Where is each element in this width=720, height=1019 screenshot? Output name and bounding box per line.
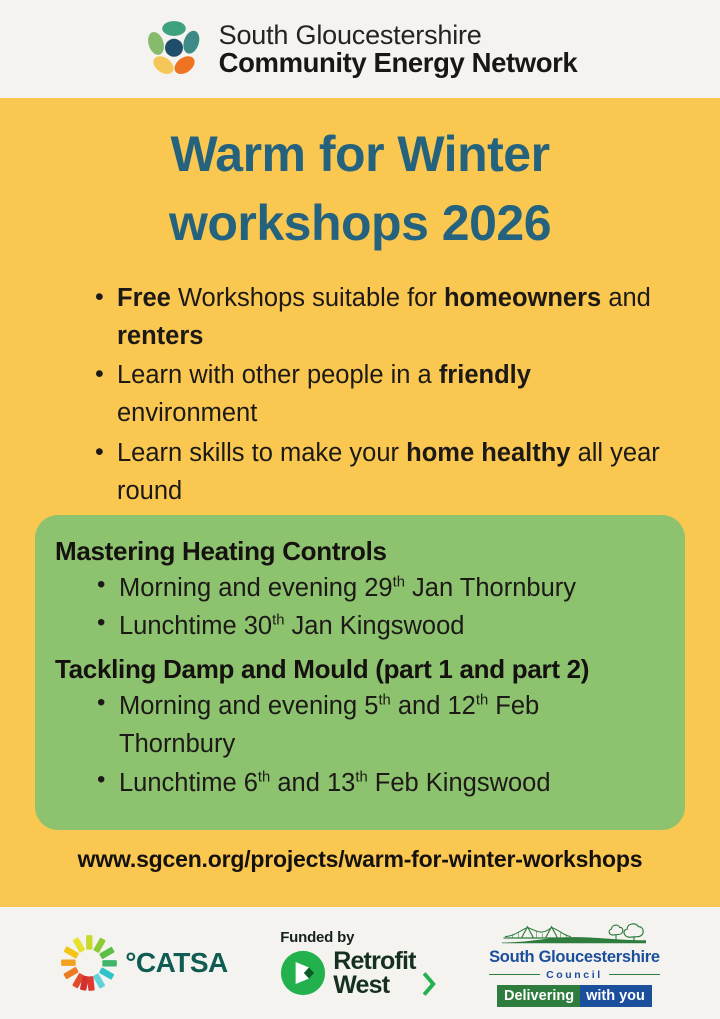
title-line-1: Warm for Winter: [60, 120, 660, 189]
emphasis-text: Free: [117, 284, 178, 312]
workshop-session-item: Morning and evening 5th and 12th Feb Tho…: [97, 687, 661, 764]
text-run: Lunchtime 6: [119, 769, 258, 797]
text-run: Feb Kingswood: [368, 769, 551, 797]
rule-right: [609, 974, 660, 975]
south-gloucestershire-council-logo: South Gloucestershire Council Delivering…: [489, 920, 660, 1007]
intro-bullet-item: Learn skills to make your home healthy a…: [95, 435, 660, 510]
text-run: and: [601, 284, 651, 312]
workshop-session-item: Lunchtime 6th and 13th Feb Kingswood: [97, 764, 661, 802]
text-run: Morning and evening 29: [119, 574, 393, 602]
text-run: Workshops suitable for: [178, 284, 444, 312]
workshop-session-list: Morning and evening 29th Jan ThornburyLu…: [55, 569, 661, 646]
delivering-with-you-badge: Delivering with you: [497, 985, 652, 1007]
emphasis-text: renters: [117, 322, 203, 350]
intro-bullet-list: Free Workshops suitable for homeowners a…: [0, 280, 720, 510]
catsa-sunburst-logo: [60, 934, 118, 992]
badge-blue-text: with you: [580, 985, 652, 1007]
text-run: Lunchtime 30: [119, 612, 272, 640]
text-run: Jan Thornbury: [405, 574, 576, 602]
emphasis-text: friendly: [439, 361, 531, 389]
retrofit-west-line-1: Retrofit: [333, 949, 415, 974]
ordinal-suffix: th: [258, 769, 270, 785]
retrofit-west-name: Retrofit West: [333, 949, 415, 998]
workshop-session-item: Lunchtime 30th Jan Kingswood: [97, 607, 661, 645]
text-run: and 12: [391, 692, 476, 720]
page-title: Warm for Winter workshops 2026: [0, 98, 720, 258]
ordinal-suffix: th: [393, 574, 405, 590]
page-footer: °CATSA Funded by Retrofit West: [0, 907, 720, 1019]
intro-bullet-item: Free Workshops suitable for homeowners a…: [95, 280, 660, 355]
text-run: and 13: [270, 769, 355, 797]
intro-bullet-item: Learn with other people in a friendly en…: [95, 357, 660, 432]
workshop-heading: Mastering Heating Controls: [55, 535, 661, 569]
emphasis-text: homeowners: [444, 284, 601, 312]
text-run: Learn with other people in a: [117, 361, 439, 389]
workshop-session-list: Morning and evening 5th and 12th Feb Tho…: [55, 687, 661, 802]
catsa-label: °CATSA: [125, 947, 228, 979]
bridge-hills-trees-logo: [499, 920, 649, 947]
sgcen-petal-circle-logo: [143, 18, 205, 80]
brand-line-2: Community Energy Network: [219, 49, 578, 78]
retrofit-west-line-2: West: [333, 973, 415, 998]
brand-line-1: South Gloucestershire: [219, 21, 578, 49]
ordinal-suffix: th: [355, 769, 367, 785]
retrofit-west-logo: Funded by Retrofit West: [280, 929, 436, 998]
page-header: South Gloucestershire Community Energy N…: [0, 0, 720, 98]
council-subtitle-row: Council: [489, 969, 660, 981]
text-run: environment: [117, 399, 257, 427]
brand-wordmark: South Gloucestershire Community Energy N…: [219, 21, 578, 78]
funded-by-label: Funded by: [280, 929, 354, 946]
council-word: Council: [546, 969, 603, 981]
text-run: Morning and evening 5: [119, 692, 378, 720]
website-url[interactable]: www.sgcen.org/projects/warm-for-winter-w…: [0, 846, 720, 873]
workshop-heading: Tackling Damp and Mould (part 1 and part…: [55, 653, 661, 687]
workshop-schedule-panel: Mastering Heating ControlsMorning and ev…: [35, 515, 685, 830]
poster-body: Warm for Winter workshops 2026 Free Work…: [0, 98, 720, 907]
ordinal-suffix: th: [272, 613, 284, 629]
rule-left: [489, 974, 540, 975]
workshop-list: Mastering Heating ControlsMorning and ev…: [55, 535, 661, 802]
workshop-session-item: Morning and evening 29th Jan Thornbury: [97, 569, 661, 607]
text-run: Learn skills to make your: [117, 439, 406, 467]
badge-green-text: Delivering: [497, 985, 580, 1007]
catsa-logo: °CATSA: [60, 934, 228, 992]
chevron-right-icon: [423, 971, 437, 997]
council-name: South Gloucestershire: [489, 948, 660, 967]
ordinal-suffix: th: [378, 693, 390, 709]
ordinal-suffix: th: [476, 693, 488, 709]
text-run: Jan Kingswood: [284, 612, 464, 640]
retrofit-west-circle-logo: [280, 950, 326, 996]
emphasis-text: home healthy: [406, 439, 570, 467]
title-line-2: workshops 2026: [60, 189, 660, 258]
